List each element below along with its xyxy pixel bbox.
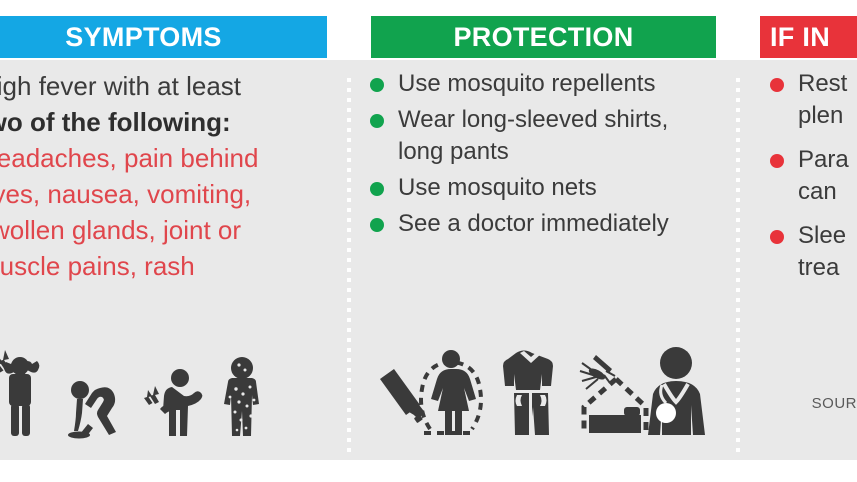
source-label: SOUR [812,395,857,412]
protection-column: Use mosquito repellents Wear long-sleeve… [368,68,728,244]
if-infected-item-2-cont: can [768,176,857,208]
protection-item-4: See a doctor immediately [368,208,728,240]
symptoms-column: High fever with at least two of the foll… [0,68,328,284]
content-panel: High fever with at least two of the foll… [0,60,857,460]
column-divider-right [736,78,740,453]
column-divider-left [347,78,351,453]
header-protection: PROTECTION [371,16,716,58]
symptoms-pictogram-row [0,342,300,442]
symptoms-line-3: Headaches, pain behind [0,140,328,176]
joint-pain-person-icon [144,369,202,436]
protection-item-3-label: Use mosquito nets [398,174,597,201]
protection-item-2-cont: long pants [368,136,728,168]
protection-item-1: Use mosquito repellents [368,68,728,100]
green-bullet-icon [370,114,384,128]
symptoms-line-4: eyes, nausea, vomiting, [0,176,328,212]
red-bullet-icon [770,154,784,168]
protection-item-3: Use mosquito nets [368,172,728,204]
if-infected-item-3-label: Slee [798,222,846,249]
header-bar-row: SYMPTOMS PROTECTION IF IN [0,16,857,58]
if-infected-item-1: Rest [768,68,857,100]
green-bullet-icon [370,218,384,232]
if-infected-item-2: Para [768,144,857,176]
protection-item-4-label: See a doctor immediately [398,210,669,237]
symptoms-line-6: muscle pains, rash [0,248,328,284]
protection-item-2-label-cont: long pants [398,138,509,165]
if-infected-item-2-label: Para [798,146,849,173]
if-infected-item-3-cont: trea [768,252,857,284]
symptoms-line-1: High fever with at least [0,68,328,104]
protection-item-1-label: Use mosquito repellents [398,70,655,97]
if-infected-item-3: Slee [768,220,857,252]
if-infected-bullet-list: Rest plen Para can Slee trea [768,68,857,284]
doctor-stethoscope-icon [648,347,705,435]
header-symptoms: SYMPTOMS [0,16,327,58]
if-infected-column: Rest plen Para can Slee trea [768,68,857,296]
if-infected-item-2-label-cont: can [798,178,837,205]
vomiting-person-icon [68,381,116,439]
if-infected-item-3-label-cont: trea [798,254,839,281]
rash-person-icon [224,357,259,436]
red-bullet-icon [770,78,784,92]
green-bullet-icon [370,78,384,92]
repellent-tube-icon [380,369,424,423]
if-infected-item-1-label: Rest [798,70,847,97]
symptoms-line-5: swollen glands, joint or [0,212,328,248]
dengue-infographic: SYMPTOMS PROTECTION IF IN High fever wit… [0,0,857,482]
protection-item-2-label: Wear long-sleeved shirts, [398,106,668,133]
symptoms-line-2: two of the following: [0,104,328,140]
if-infected-item-1-cont: plen [768,100,857,132]
protected-person-icon [421,350,481,435]
protection-pictogram-row [368,337,728,442]
if-infected-item-1-label-cont: plen [798,102,843,129]
mosquito-net-bed-icon [580,355,646,433]
header-if-infected: IF IN [760,16,857,58]
red-bullet-icon [770,230,784,244]
headache-person-icon [0,350,39,436]
green-bullet-icon [370,182,384,196]
long-sleeved-clothing-icon [503,351,553,436]
protection-bullet-list: Use mosquito repellents Wear long-sleeve… [368,68,728,240]
protection-item-2: Wear long-sleeved shirts, [368,104,728,136]
